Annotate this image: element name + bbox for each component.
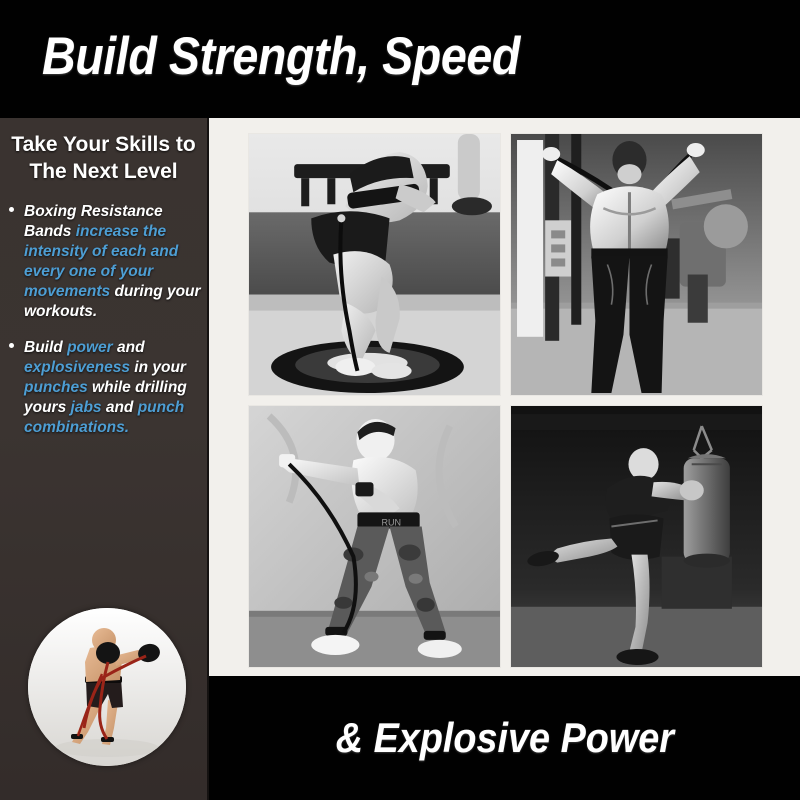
bullet-dot-icon (9, 207, 14, 212)
gallery-photo-top-right (510, 133, 763, 396)
photo-grid: RUN (248, 133, 763, 668)
list-item: Build power and explosiveness in your pu… (6, 338, 201, 439)
header-banner: Build Strength, Speed (0, 0, 800, 118)
boxer-heavy-bag-photo (511, 406, 762, 667)
benefits-list: Boxing Resistance Bands increase the int… (6, 202, 201, 439)
svg-text:RUN: RUN (382, 517, 402, 527)
sidebar-heading: Take Your Skills to The Next Level (8, 132, 199, 186)
footer-title: & Explosive Power (335, 714, 673, 762)
list-item: Boxing Resistance Bands increase the int… (6, 202, 201, 323)
footer-banner: & Explosive Power (209, 676, 800, 800)
sidebar: Take Your Skills to The Next Level Boxin… (0, 118, 209, 800)
plain-text: Build (24, 339, 67, 356)
bullet-text: Boxing Resistance Bands increase the int… (24, 203, 201, 321)
promotional-poster: Build Strength, Speed Take Your Skills t… (0, 0, 800, 800)
product-thumbnail-circle (28, 608, 186, 766)
gallery-photo-bottom-left: RUN (248, 405, 501, 668)
man-cable-machine-photo (511, 134, 762, 395)
gallery-photo-top-left (248, 133, 501, 396)
woman-trampoline-band-photo (249, 134, 500, 395)
highlight-text: jabs (71, 399, 106, 416)
bullet-text: Build power and explosiveness in your pu… (24, 339, 187, 437)
highlight-text: punches (24, 379, 92, 396)
plain-text: in your (134, 359, 186, 376)
highlight-text: power (67, 339, 117, 356)
bullet-dot-icon (9, 343, 14, 348)
man-punching-band-photo: RUN (249, 406, 500, 667)
boxer-product-illustration (28, 608, 186, 766)
product-thumbnail (28, 608, 186, 766)
gallery-photo-bottom-right (510, 405, 763, 668)
page-title: Build Strength, Speed (42, 26, 520, 87)
plain-text: and (106, 399, 138, 416)
highlight-text: explosiveness (24, 359, 134, 376)
plain-text: and (117, 339, 145, 356)
